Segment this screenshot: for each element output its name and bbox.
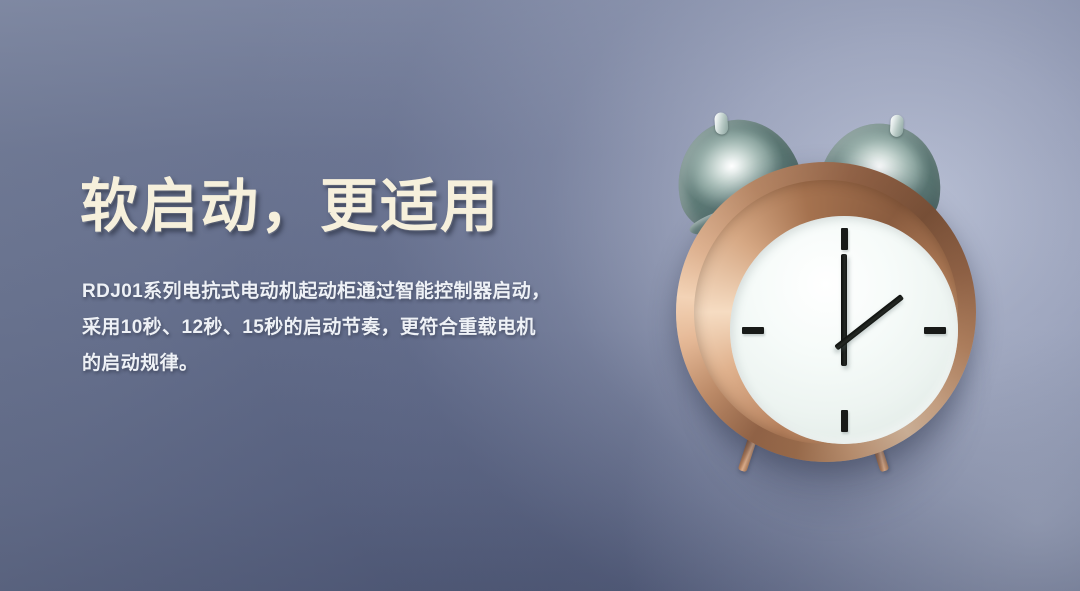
- bell-knob-right: [890, 115, 904, 138]
- banner-copy-block: 软启动，更适用 RDJ01系列电抗式电动机起动柜通过智能控制器启动，采用10秒、…: [80, 176, 600, 382]
- clock-tick-12: [841, 228, 848, 250]
- bell-knob-left: [714, 112, 729, 135]
- soft-start-banner: 软启动，更适用 RDJ01系列电抗式电动机起动柜通过智能控制器启动，采用10秒、…: [0, 0, 1080, 591]
- clock-case: [676, 162, 976, 462]
- clock-tick-9: [742, 327, 764, 334]
- clock-face: [730, 216, 958, 444]
- banner-description: RDJ01系列电抗式电动机起动柜通过智能控制器启动，采用10秒、12秒、15秒的…: [82, 274, 552, 382]
- clock-minute-hand: [841, 254, 847, 366]
- clock-tick-6: [841, 410, 848, 432]
- banner-headline: 软启动，更适用: [80, 176, 600, 238]
- clock-tick-3: [924, 327, 946, 334]
- alarm-clock-illustration: [648, 112, 1008, 512]
- clock-bezel: [694, 180, 958, 444]
